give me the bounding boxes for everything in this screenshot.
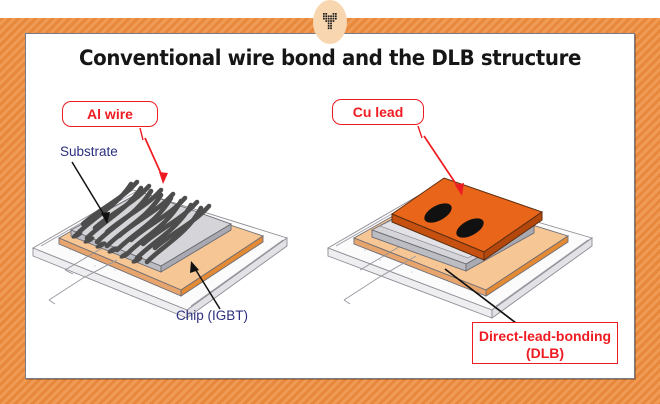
- callout-dlb-line2: (DLB): [526, 345, 564, 361]
- callout-al-wire-label: Al wire: [87, 106, 133, 122]
- callout-cu-lead[interactable]: Cu lead: [332, 99, 424, 125]
- callout-dlb-leader: [440, 265, 550, 327]
- dotted-v-logo-icon: [323, 12, 338, 32]
- slide-root: Conventional wire bond and the DLB struc…: [0, 0, 660, 404]
- page-title: Conventional wire bond and the DLB struc…: [26, 46, 633, 71]
- callout-cu-lead-pointer: [330, 118, 470, 208]
- callout-dlb-line1: Direct-lead-bonding: [479, 328, 611, 344]
- label-chip-igbt-leader: [160, 255, 250, 315]
- callout-al-wire[interactable]: Al wire: [62, 101, 158, 127]
- label-substrate-leader: [60, 160, 130, 230]
- callout-cu-lead-label: Cu lead: [353, 104, 404, 120]
- label-substrate: Substrate: [60, 144, 118, 159]
- callout-dlb[interactable]: Direct-lead-bonding (DLB): [472, 322, 618, 364]
- logo-badge: [313, 0, 347, 44]
